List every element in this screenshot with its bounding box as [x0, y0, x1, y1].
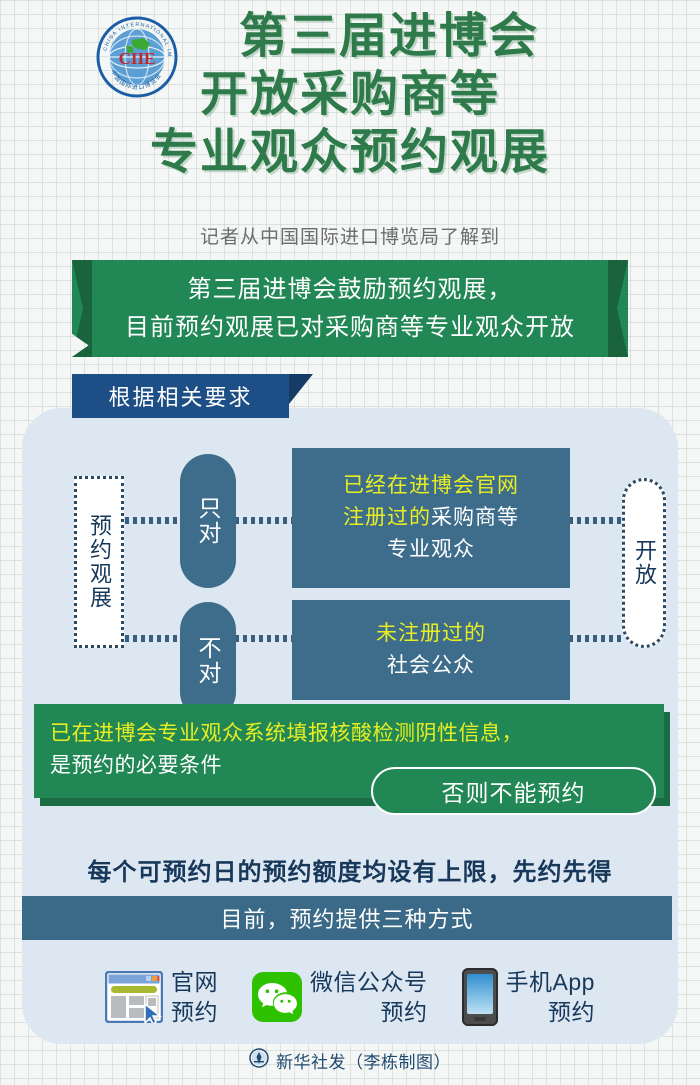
- title-line-2: 开放采购商等: [0, 66, 700, 124]
- method-wechat-label-line2: 预约: [310, 997, 428, 1027]
- method-official-website-label-line2: 预约: [171, 997, 218, 1027]
- method-wechat-label-line1: 微信公众号: [310, 969, 428, 995]
- eligibility-diagram: 预约观展 只对 不对 已经在进博会官网 注册过的采购商等 专业观众 未注册过的 …: [22, 430, 678, 692]
- lead-ribbon-banner: 第三届进博会鼓励预约观展， 目前预约观展已对采购商等专业观众开放: [72, 260, 628, 357]
- method-mobile-app-label: 手机App 预约: [506, 967, 595, 1027]
- smartphone-icon: [462, 968, 498, 1026]
- connector-pill-only-for-label: 只对: [195, 496, 221, 546]
- title-line-3: 专业观众预约观展: [0, 124, 700, 182]
- card-registered-line-2: 注册过的采购商等: [343, 502, 519, 534]
- connector-pill-only-for: 只对: [180, 454, 236, 588]
- connector-line-5: [235, 635, 293, 642]
- title-line-1: 第三届进博会: [0, 8, 700, 66]
- booking-methods-bar: 目前，预约提供三种方式: [22, 896, 672, 940]
- connector-line-6: [569, 635, 623, 642]
- card-registered-line-3: 专业观众: [387, 534, 475, 566]
- wechat-icon: [252, 972, 302, 1022]
- method-wechat-label: 微信公众号 预约: [310, 967, 428, 1027]
- connector-line-4: [125, 635, 181, 642]
- browser-window-icon: [105, 971, 163, 1023]
- diagram-right-label-box: 开放: [622, 478, 666, 648]
- tab-fold-corner: [289, 374, 313, 404]
- diagram-left-label: 预约观展: [86, 514, 112, 610]
- ribbon-line-2: 目前预约观展已对采购商等专业观众开放: [125, 309, 575, 347]
- ribbon-notch-right: [608, 260, 628, 357]
- card-registered-line-2-yellow: 注册过的: [343, 506, 431, 529]
- deny-pill-label: 否则不能预约: [442, 774, 586, 808]
- header: CIIE CHINA INTERNATIONAL IMPORT EXPO 中国国…: [0, 0, 700, 255]
- footer-credit-text: 新华社发（李栋制图）: [276, 1048, 451, 1073]
- method-official-website-label-line1: 官网: [171, 969, 218, 995]
- card-public-line-2: 社会公众: [387, 650, 475, 682]
- card-registered-line-1: 已经在进博会官网: [343, 470, 519, 502]
- requirement-tab-label: 根据相关要求: [108, 380, 252, 412]
- ribbon-line-1: 第三届进博会鼓励预约观展，: [188, 271, 513, 309]
- method-mobile-app-label-line1: 手机App: [506, 969, 595, 995]
- ribbon-notch-left: [72, 260, 92, 357]
- condition-line-1: 已在进博会专业观众系统填报核酸检测阴性信息，: [50, 718, 648, 750]
- method-official-website-label: 官网 预约: [171, 967, 218, 1027]
- deny-pill: 否则不能预约: [371, 767, 656, 815]
- method-wechat[interactable]: 微信公众号 预约: [252, 967, 428, 1027]
- connector-pill-not-for-label: 不对: [195, 636, 221, 686]
- card-registered-visitors: 已经在进博会官网 注册过的采购商等 专业观众: [292, 448, 570, 588]
- quota-note: 每个可预约日的预约额度均设有上限，先约先得: [22, 848, 678, 890]
- page-title: 第三届进博会 开放采购商等 专业观众预约观展: [0, 8, 700, 182]
- requirement-tab: 根据相关要求: [72, 374, 289, 418]
- connector-line-3: [569, 517, 623, 524]
- footer-credit: 新华社发（李栋制图）: [0, 1048, 700, 1073]
- diagram-left-label-box: 预约观展: [74, 476, 124, 648]
- booking-methods-list: 官网 预约 微信公众号 预约: [22, 952, 678, 1042]
- connector-line-2: [235, 517, 293, 524]
- connector-line-1: [125, 517, 181, 524]
- card-general-public: 未注册过的 社会公众: [292, 600, 570, 700]
- diagram-right-label: 开放: [631, 539, 657, 587]
- subtitle: 记者从中国国际进口博览局了解到: [0, 222, 700, 249]
- quota-note-text: 每个可预约日的预约额度均设有上限，先约先得: [88, 852, 613, 887]
- card-public-line-1: 未注册过的: [376, 618, 486, 650]
- method-mobile-app-label-line2: 预约: [506, 997, 595, 1027]
- method-mobile-app[interactable]: 手机App 预约: [462, 967, 595, 1027]
- method-official-website[interactable]: 官网 预约: [105, 967, 218, 1027]
- xinhua-logo-icon: [249, 1048, 269, 1073]
- card-registered-line-2-white: 采购商等: [431, 506, 519, 529]
- booking-methods-bar-text: 目前，预约提供三种方式: [220, 902, 473, 934]
- connector-pill-not-for: 不对: [180, 602, 236, 720]
